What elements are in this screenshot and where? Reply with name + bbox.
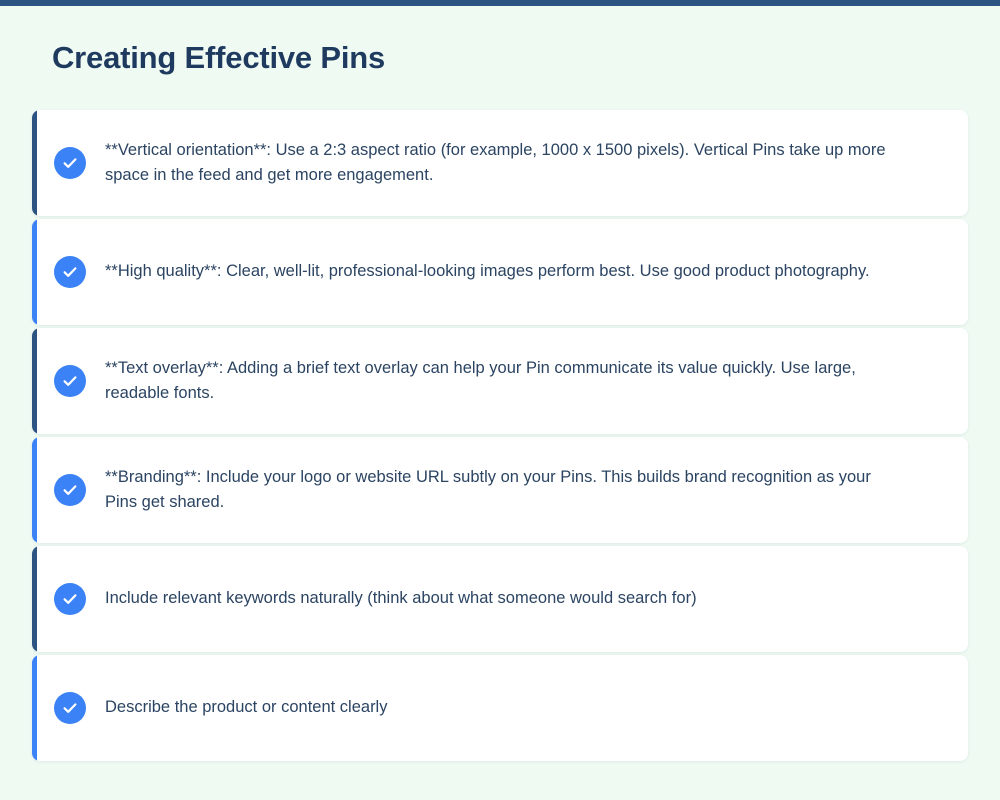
- checklist: **Vertical orientation**: Use a 2:3 aspe…: [0, 110, 1000, 761]
- list-item-text: **Text overlay**: Adding a brief text ov…: [105, 356, 895, 407]
- list-item: Include relevant keywords naturally (thi…: [32, 546, 968, 652]
- list-item: **High quality**: Clear, well-lit, profe…: [32, 219, 968, 325]
- top-accent-bar: [0, 0, 1000, 6]
- check-circle-icon: [54, 147, 86, 179]
- list-item: **Branding**: Include your logo or websi…: [32, 437, 968, 543]
- check-circle-icon: [54, 583, 86, 615]
- list-item-text: **Vertical orientation**: Use a 2:3 aspe…: [105, 138, 895, 189]
- page-title: Creating Effective Pins: [52, 39, 1000, 76]
- list-item-text: **High quality**: Clear, well-lit, profe…: [105, 259, 870, 285]
- list-item-text: **Branding**: Include your logo or websi…: [105, 465, 895, 516]
- list-item: **Vertical orientation**: Use a 2:3 aspe…: [32, 110, 968, 216]
- check-circle-icon: [54, 692, 86, 724]
- list-item-text: Describe the product or content clearly: [105, 695, 387, 721]
- check-circle-icon: [54, 256, 86, 288]
- list-item: **Text overlay**: Adding a brief text ov…: [32, 328, 968, 434]
- check-circle-icon: [54, 365, 86, 397]
- list-item-text: Include relevant keywords naturally (thi…: [105, 586, 697, 612]
- check-circle-icon: [54, 474, 86, 506]
- list-item: Describe the product or content clearly: [32, 655, 968, 761]
